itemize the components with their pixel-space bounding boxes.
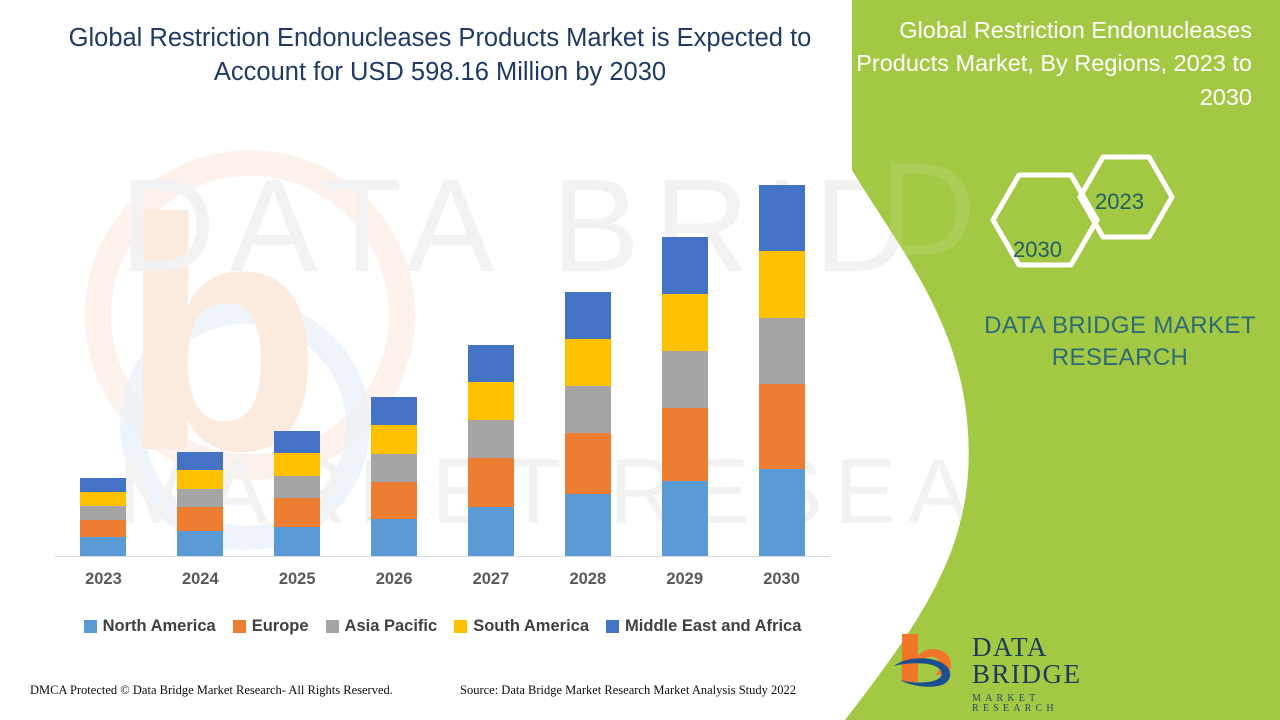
- hexagon-group: 2023 2030: [975, 145, 1195, 295]
- infographic-canvas: b DATA BRIDGE MARKET RESEARCH Global Res…: [0, 0, 1280, 720]
- panel-title: Global Restriction Endonucleases Product…: [832, 14, 1252, 114]
- svg-text:H: H: [880, 463, 958, 565]
- logo-main-text: DATA BRIDGE: [972, 634, 1120, 688]
- brand-name: DATA BRIDGE MARKET RESEARCH: [960, 310, 1280, 375]
- logo-mark-icon: [890, 630, 968, 688]
- svg-text:D: D: [880, 136, 989, 283]
- logo-wordmark: DATA BRIDGE MARKET RESEARCH: [972, 634, 1120, 714]
- hexagon-label-end: 2030: [1013, 237, 1062, 263]
- logo-sub-text: MARKET RESEARCH: [972, 694, 1120, 714]
- hexagon-label-start: 2023: [1095, 189, 1144, 215]
- data-bridge-logo: DATA BRIDGE MARKET RESEARCH: [890, 630, 1120, 692]
